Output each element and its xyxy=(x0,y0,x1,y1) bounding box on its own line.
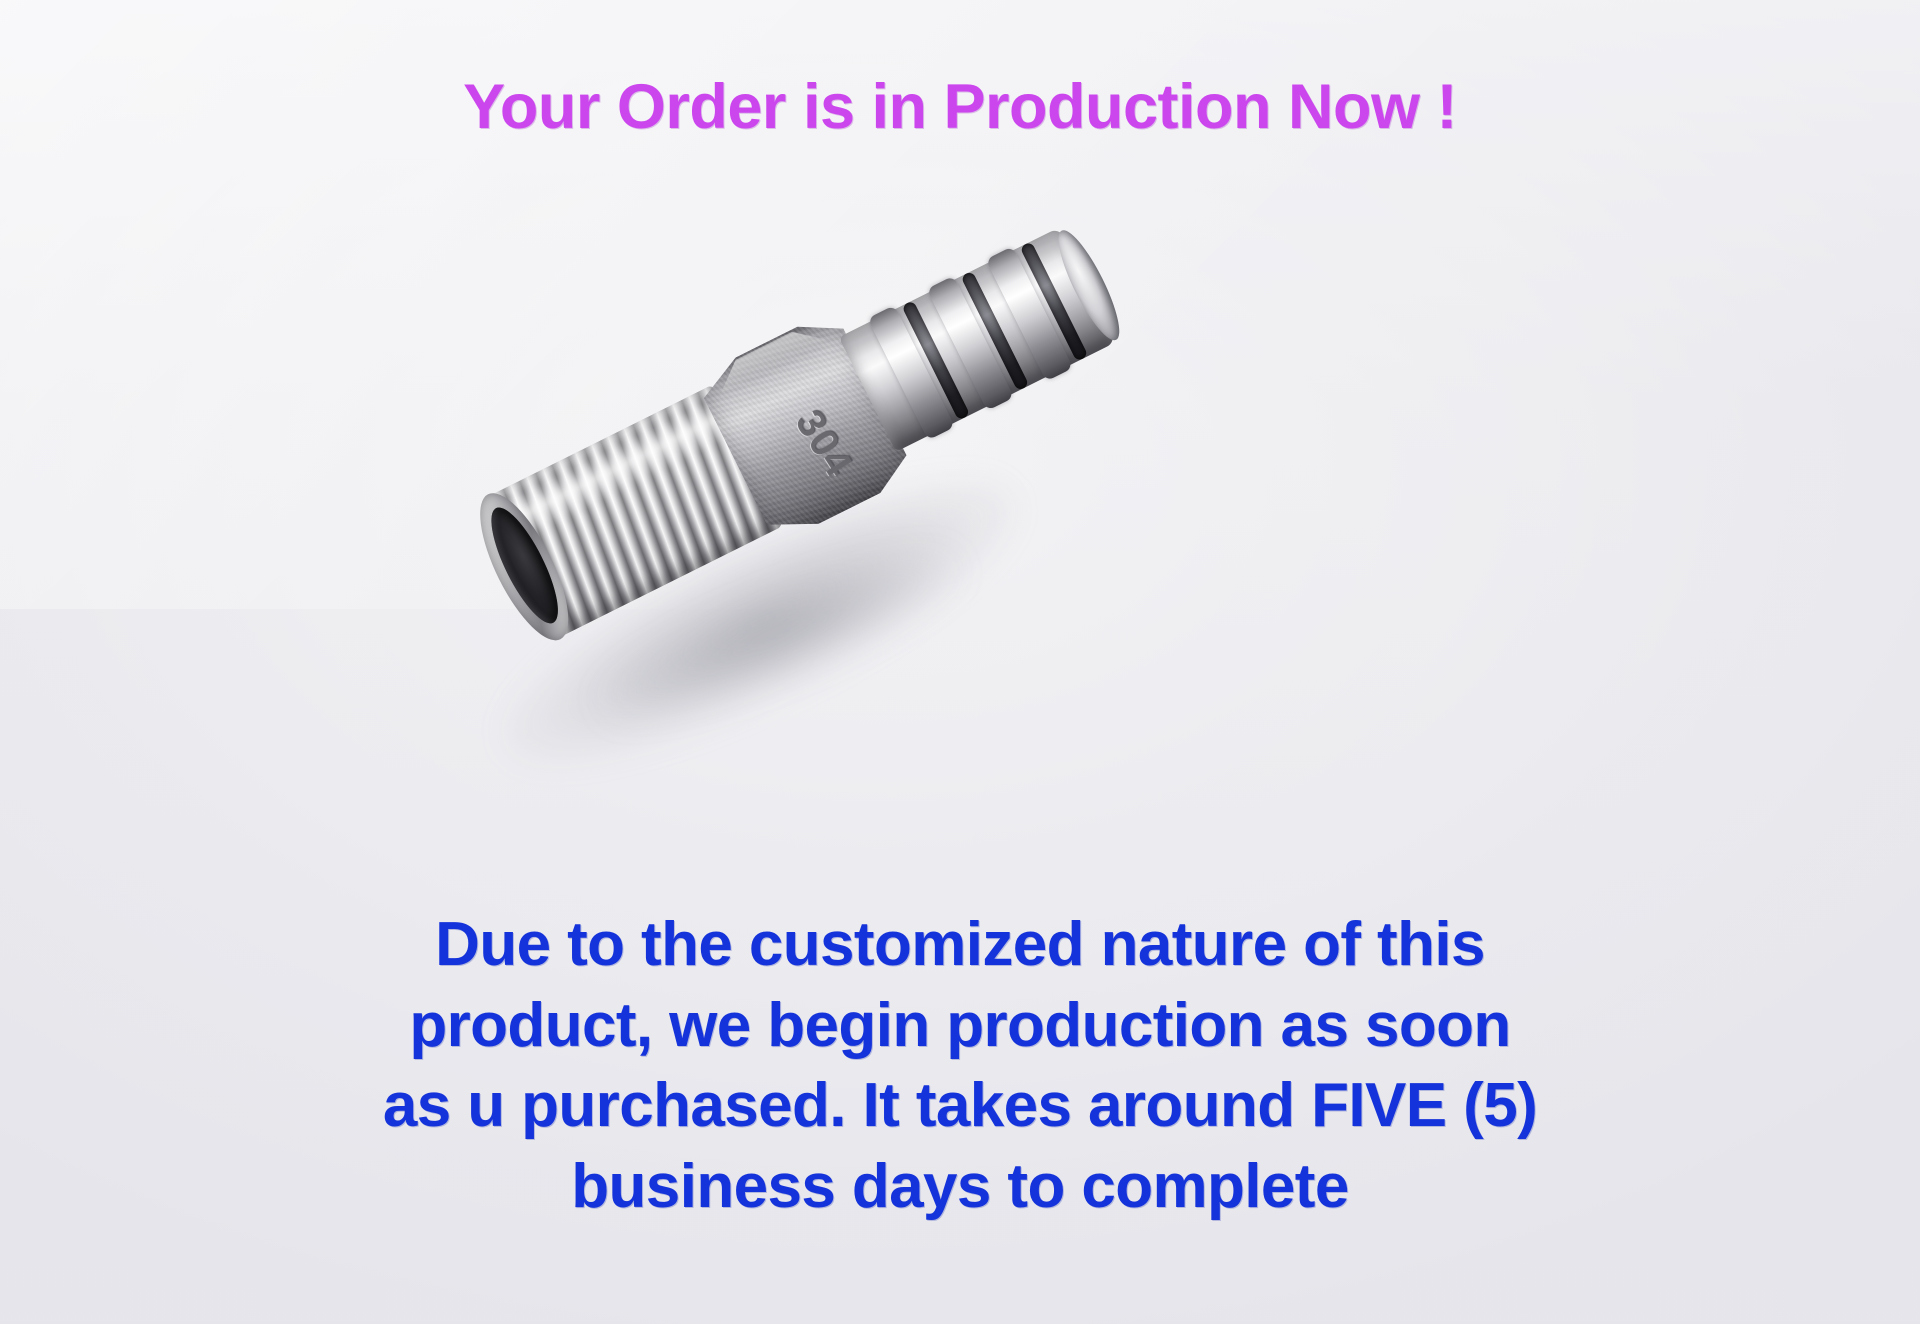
notice-line: as u purchased. It takes around FIVE (5) xyxy=(0,1066,1920,1147)
page-title: Your Order is in Production Now ! xyxy=(0,74,1920,140)
promo-banner: Your Order is in Production Now ! 304 xyxy=(0,0,1920,1324)
notice-line: business days to complete xyxy=(0,1147,1920,1228)
notice-line: Due to the customized nature of this xyxy=(0,905,1920,986)
product-photo: 304 xyxy=(470,300,1160,730)
notice-line: product, we begin production as soon xyxy=(0,986,1920,1067)
production-notice: Due to the customized nature of this pro… xyxy=(0,905,1920,1227)
